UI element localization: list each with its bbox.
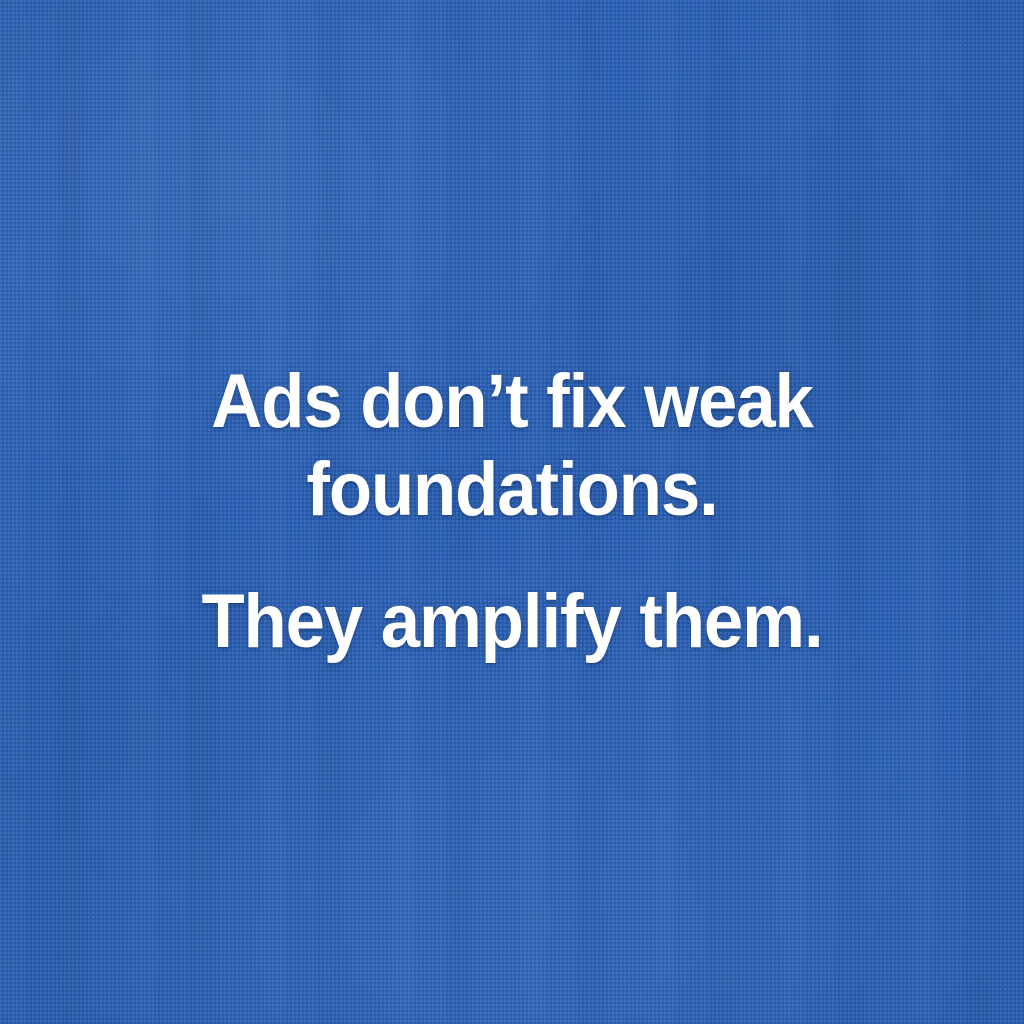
quote-primary-statement: Ads don’t fix weak foundations. [187, 358, 838, 534]
quote-card: Ads don’t fix weak foundations. They amp… [0, 0, 1024, 1024]
quote-text-block: Ads don’t fix weak foundations. They amp… [0, 0, 1024, 1024]
quote-secondary-statement: They amplify them. [187, 578, 838, 666]
